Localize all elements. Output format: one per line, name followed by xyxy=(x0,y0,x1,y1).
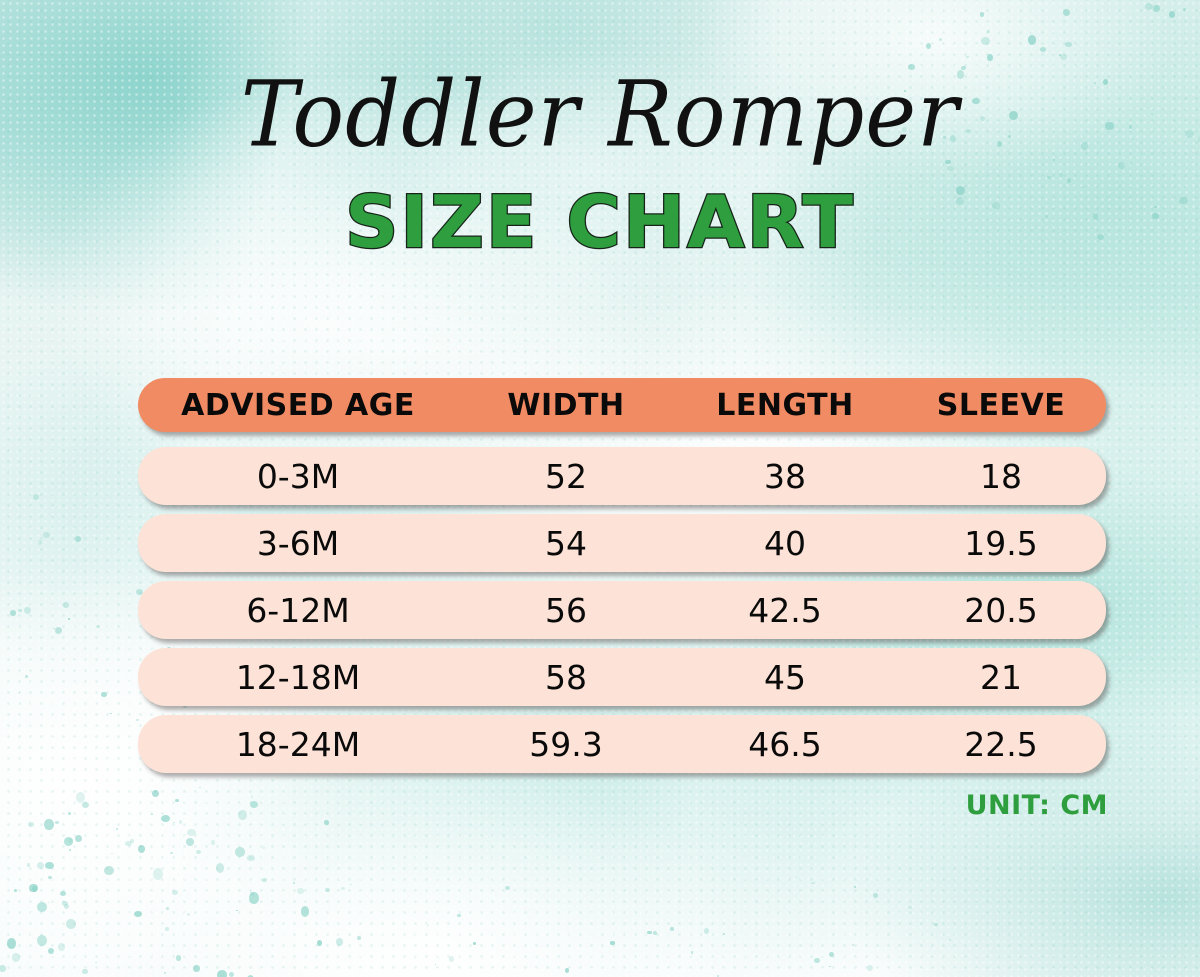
cell-advised-age: 12-18M xyxy=(138,658,458,697)
unit-label: UNIT: CM xyxy=(966,790,1108,821)
column-header-sleeve: SLEEVE xyxy=(896,388,1106,423)
title-block: Toddler Romper SIZE CHART xyxy=(0,72,1200,258)
cell-length: 42.5 xyxy=(674,591,896,630)
table-row: 12-18M 58 45 21 xyxy=(138,648,1106,706)
table-row: 0-3M 52 38 18 xyxy=(138,447,1106,505)
cell-sleeve: 19.5 xyxy=(896,524,1106,563)
size-chart-table: ADVISED AGE WIDTH LENGTH SLEEVE 0-3M 52 … xyxy=(138,378,1106,773)
cell-length: 38 xyxy=(674,457,896,496)
cell-length: 46.5 xyxy=(674,725,896,764)
column-header-length: LENGTH xyxy=(674,388,896,423)
column-header-advised-age: ADVISED AGE xyxy=(138,388,458,423)
cell-width: 56 xyxy=(458,591,674,630)
cell-sleeve: 22.5 xyxy=(896,725,1106,764)
cell-width: 58 xyxy=(458,658,674,697)
cell-advised-age: 18-24M xyxy=(138,725,458,764)
column-header-width: WIDTH xyxy=(458,388,674,423)
cell-width: 59.3 xyxy=(458,725,674,764)
page-subtitle: SIZE CHART xyxy=(0,186,1200,258)
cell-advised-age: 3-6M xyxy=(138,524,458,563)
cell-sleeve: 20.5 xyxy=(896,591,1106,630)
cell-advised-age: 0-3M xyxy=(138,457,458,496)
table-header-row: ADVISED AGE WIDTH LENGTH SLEEVE xyxy=(138,378,1106,432)
page-title: Toddler Romper xyxy=(0,69,1200,162)
cell-length: 40 xyxy=(674,524,896,563)
table-row: 6-12M 56 42.5 20.5 xyxy=(138,581,1106,639)
cell-advised-age: 6-12M xyxy=(138,591,458,630)
cell-sleeve: 18 xyxy=(896,457,1106,496)
cell-width: 54 xyxy=(458,524,674,563)
table-row: 3-6M 54 40 19.5 xyxy=(138,514,1106,572)
cell-length: 45 xyxy=(674,658,896,697)
cell-width: 52 xyxy=(458,457,674,496)
size-chart-poster: Toddler Romper SIZE CHART ADVISED AGE WI… xyxy=(0,0,1200,977)
cell-sleeve: 21 xyxy=(896,658,1106,697)
table-row: 18-24M 59.3 46.5 22.5 xyxy=(138,715,1106,773)
